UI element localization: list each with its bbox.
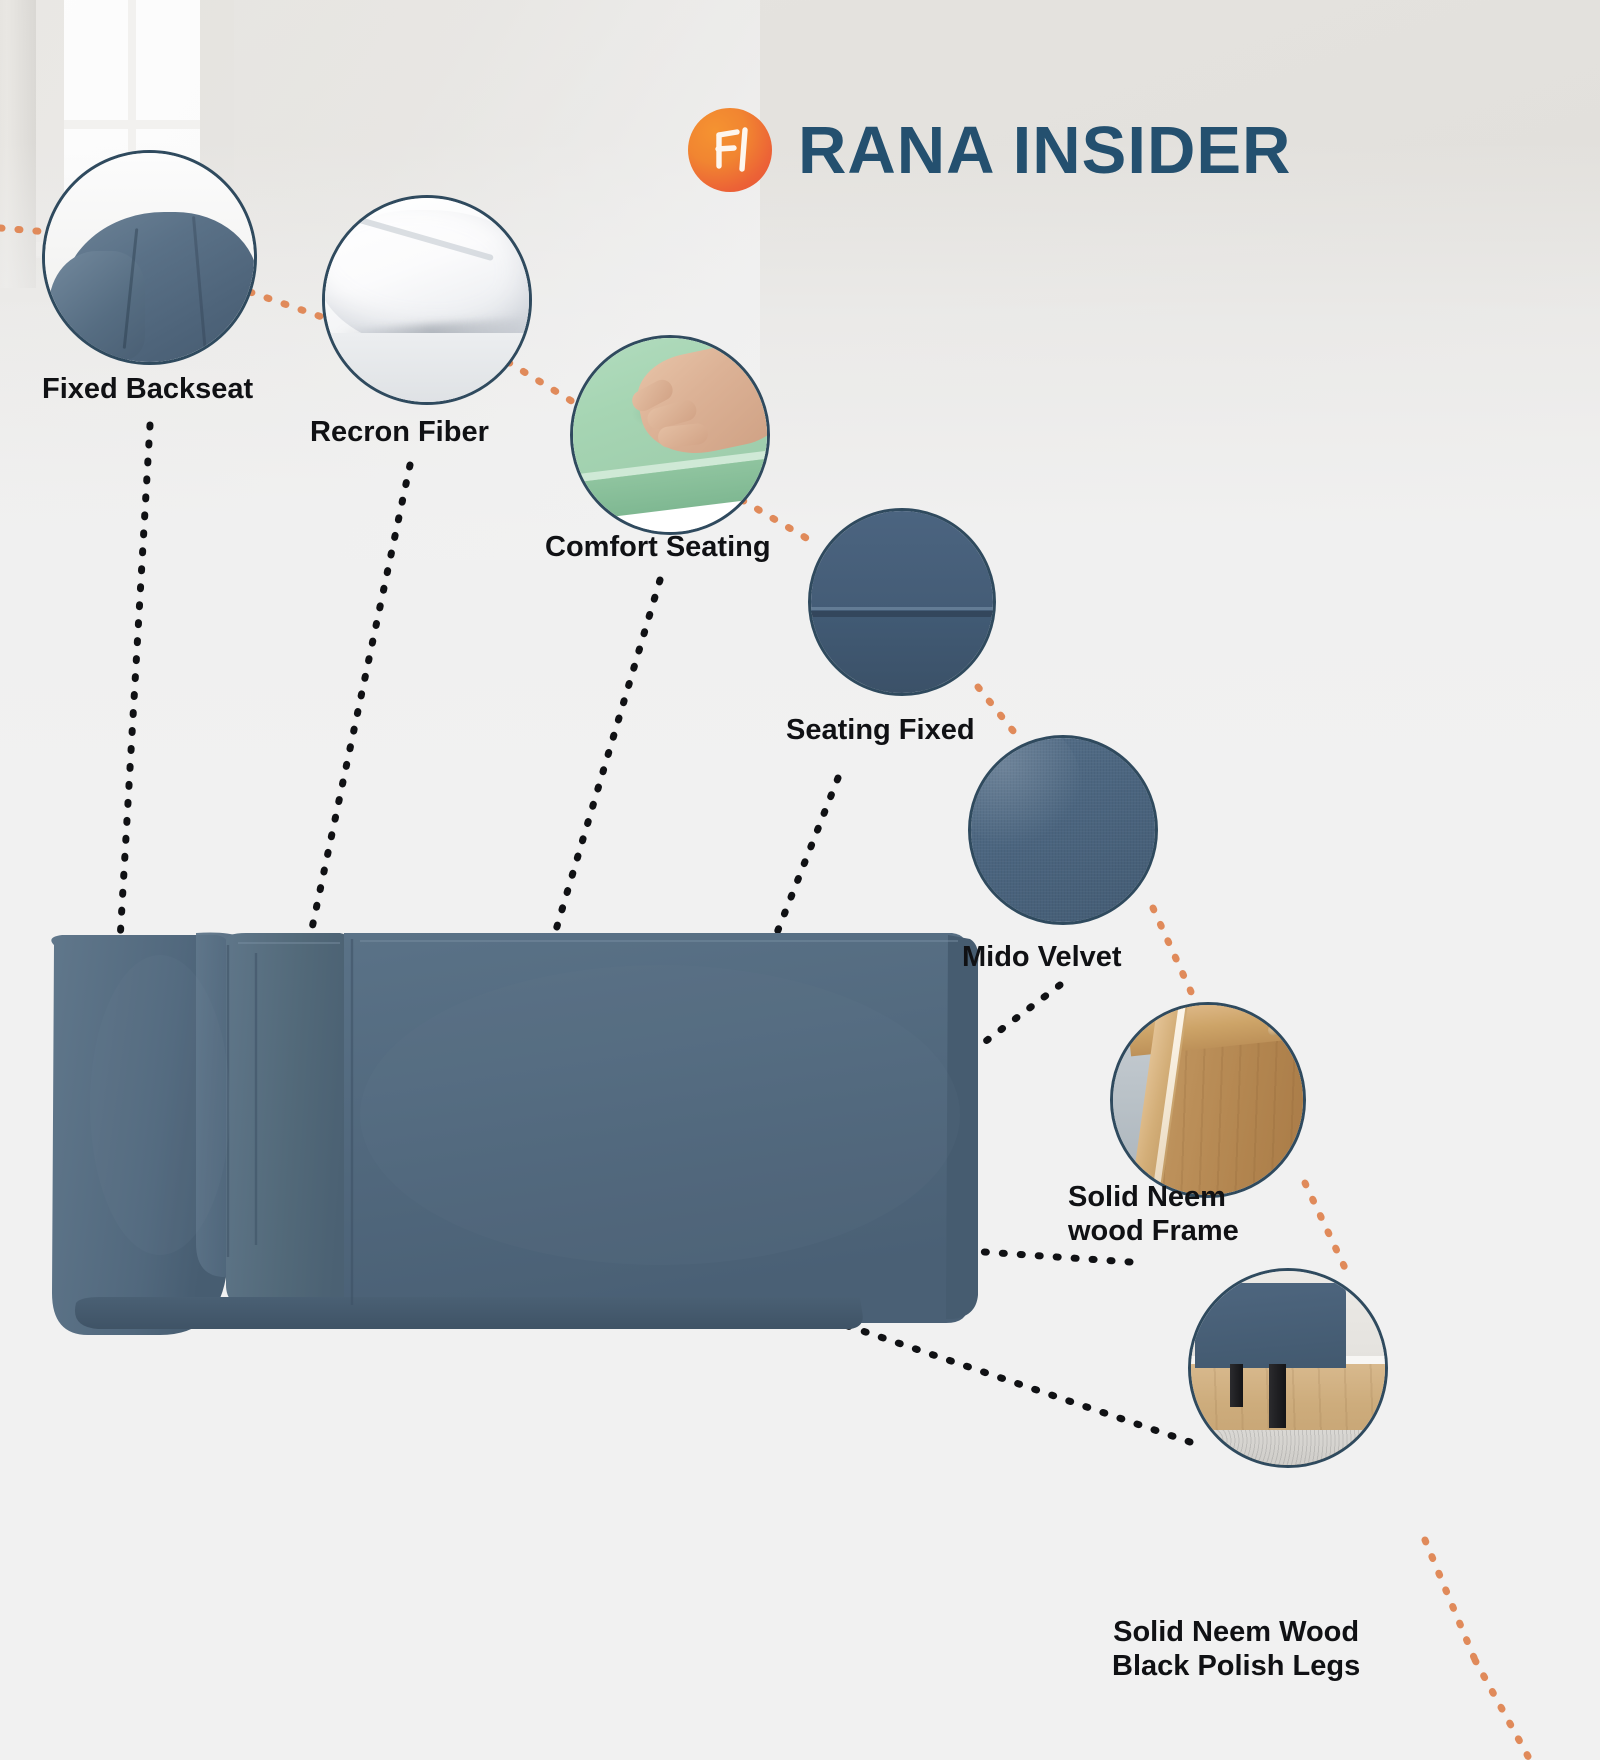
callout-fixed-backseat[interactable] [42,150,257,365]
brand-header: RANA INSIDER [688,108,1291,192]
sofa-illustration [40,905,1000,1355]
callout-label-mido-velvet: Mido Velvet [962,940,1122,974]
callout-recron-fiber[interactable] [322,195,532,405]
callout-label-neem-wood-frame: Solid Neem wood Frame [1068,1180,1239,1248]
callout-label-seating-fixed: Seating Fixed [786,713,975,747]
callout-neem-wood-frame[interactable] [1110,1002,1306,1198]
callout-neem-wood-legs[interactable] [1188,1268,1388,1468]
callout-label-neem-wood-legs: Solid Neem Wood Black Polish Legs [1112,1615,1360,1683]
callout-label-recron-fiber: Recron Fiber [310,415,489,449]
callout-seating-fixed[interactable] [808,508,996,696]
callout-comfort-seating[interactable] [570,335,770,535]
callout-label-comfort-seating: Comfort Seating [545,530,771,564]
infographic-canvas: RANA INSIDER [0,0,1600,1760]
callout-label-fixed-backseat: Fixed Backseat [42,372,253,406]
callout-mido-velvet[interactable] [968,735,1158,925]
page-title: RANA INSIDER [798,117,1291,184]
rana-logo-icon [688,108,772,192]
